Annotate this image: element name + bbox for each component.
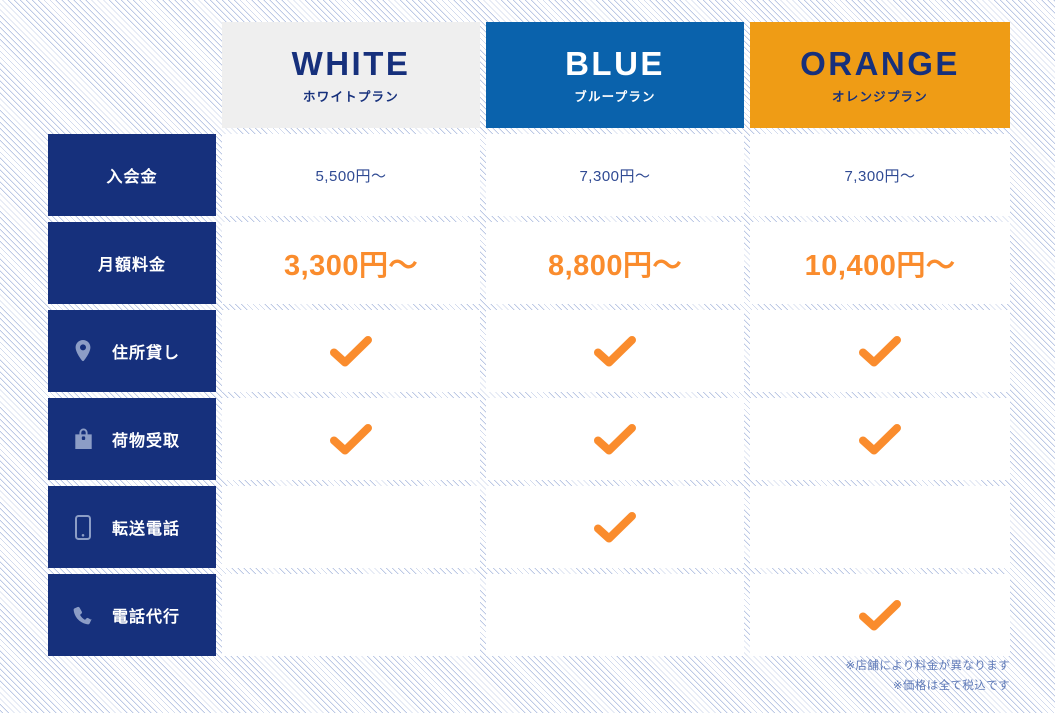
check-icon bbox=[858, 334, 902, 368]
cell-address-rental-white bbox=[222, 310, 480, 392]
price-value: 7,300円〜 bbox=[844, 165, 915, 186]
row-label-call-forwarding: 転送電話 bbox=[48, 486, 216, 568]
plan-name: BLUE bbox=[565, 47, 665, 80]
plan-subtitle: ホワイトプラン bbox=[303, 91, 399, 104]
check-icon bbox=[329, 334, 373, 368]
cell-call-forwarding-blue bbox=[486, 486, 744, 568]
row-label-text: 住所貸し bbox=[112, 339, 180, 363]
pricing-comparison-table: WHITE ホワイトプラン BLUE ブループラン ORANGE オレンジプラン… bbox=[48, 22, 1010, 650]
plan-name: ORANGE bbox=[800, 47, 960, 80]
cell-monthly-fee-white: 3,300円〜 bbox=[222, 222, 480, 304]
check-icon bbox=[858, 422, 902, 456]
footnotes: ※店舗により料金が異なります ※価格は全て税込です bbox=[710, 656, 1010, 696]
check-icon bbox=[593, 422, 637, 456]
plan-table: WHITE ホワイトプラン BLUE ブループラン ORANGE オレンジプラン… bbox=[48, 22, 1010, 656]
cell-parcel-receipt-blue bbox=[486, 398, 744, 480]
phone-handset-icon bbox=[72, 603, 94, 627]
cell-monthly-fee-orange: 10,400円〜 bbox=[750, 222, 1010, 304]
row-label-phone-answering: 電話代行 bbox=[48, 574, 216, 656]
plan-header-white[interactable]: WHITE ホワイトプラン bbox=[222, 22, 480, 128]
location-pin-icon bbox=[72, 339, 94, 363]
table-corner-cell bbox=[48, 22, 216, 128]
price-value: 10,400円〜 bbox=[805, 242, 956, 284]
plan-header-orange[interactable]: ORANGE オレンジプラン bbox=[750, 22, 1010, 128]
row-label-parcel-receipt: 荷物受取 bbox=[48, 398, 216, 480]
cell-call-forwarding-white bbox=[222, 486, 480, 568]
price-value: 5,500円〜 bbox=[315, 165, 386, 186]
cell-address-rental-blue bbox=[486, 310, 744, 392]
row-label-text: 入会金 bbox=[106, 163, 157, 187]
cell-parcel-receipt-orange bbox=[750, 398, 1010, 480]
row-label-text: 転送電話 bbox=[112, 515, 180, 539]
shopping-bag-icon bbox=[72, 427, 94, 451]
cell-entry-fee-orange: 7,300円〜 bbox=[750, 134, 1010, 216]
row-label-text: 荷物受取 bbox=[112, 427, 180, 451]
cell-phone-answering-orange bbox=[750, 574, 1010, 656]
plan-subtitle: ブループラン bbox=[574, 91, 655, 104]
row-label-text: 電話代行 bbox=[112, 603, 180, 627]
price-value: 7,300円〜 bbox=[579, 165, 650, 186]
check-icon bbox=[593, 334, 637, 368]
cell-phone-answering-white bbox=[222, 574, 480, 656]
row-label-address-rental: 住所貸し bbox=[48, 310, 216, 392]
row-label-monthly-fee: 月額料金 bbox=[48, 222, 216, 304]
footnote-tax-included: ※価格は全て税込です bbox=[710, 676, 1010, 696]
plan-subtitle: オレンジプラン bbox=[832, 91, 928, 104]
check-icon bbox=[858, 598, 902, 632]
price-value: 8,800円〜 bbox=[548, 242, 682, 284]
row-label-entry-fee: 入会金 bbox=[48, 134, 216, 216]
price-value: 3,300円〜 bbox=[284, 242, 418, 284]
plan-name: WHITE bbox=[292, 47, 411, 80]
check-icon bbox=[593, 510, 637, 544]
check-icon bbox=[329, 422, 373, 456]
row-label-text: 月額料金 bbox=[98, 251, 166, 275]
cell-entry-fee-white: 5,500円〜 bbox=[222, 134, 480, 216]
cell-call-forwarding-orange bbox=[750, 486, 1010, 568]
mobile-phone-icon bbox=[72, 515, 94, 539]
plan-header-blue[interactable]: BLUE ブループラン bbox=[486, 22, 744, 128]
cell-address-rental-orange bbox=[750, 310, 1010, 392]
cell-parcel-receipt-white bbox=[222, 398, 480, 480]
footnote-store-pricing: ※店舗により料金が異なります bbox=[710, 656, 1010, 676]
cell-entry-fee-blue: 7,300円〜 bbox=[486, 134, 744, 216]
cell-monthly-fee-blue: 8,800円〜 bbox=[486, 222, 744, 304]
cell-phone-answering-blue bbox=[486, 574, 744, 656]
